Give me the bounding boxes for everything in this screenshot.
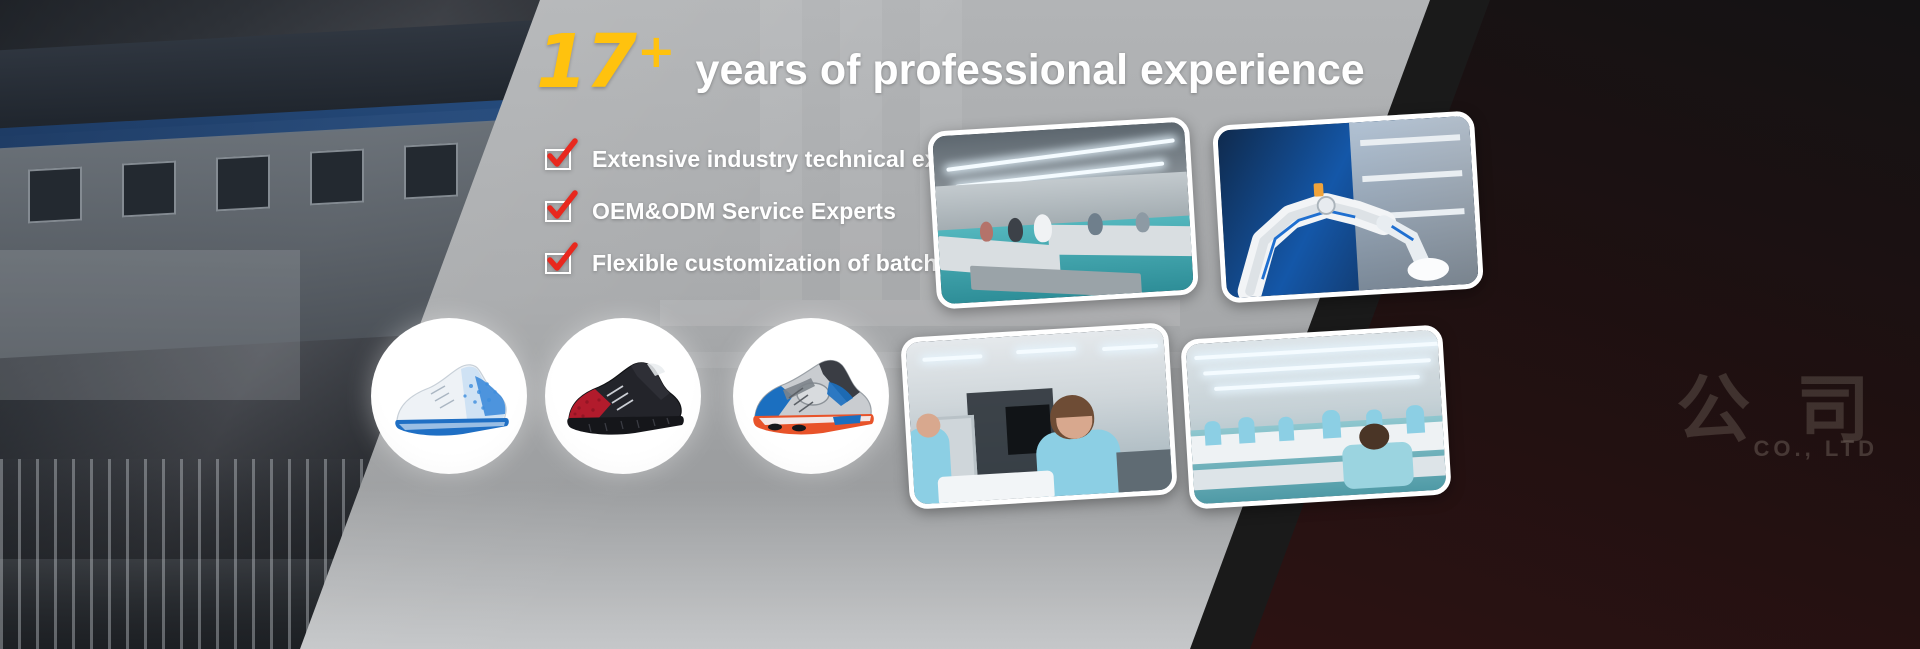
red-check-icon <box>545 201 571 222</box>
worker <box>1238 417 1256 444</box>
photo-assembly-line[interactable] <box>900 322 1178 510</box>
product-circle-black-red-shoe[interactable] <box>545 318 701 474</box>
work-bench <box>1048 225 1199 257</box>
building-window <box>404 142 458 199</box>
building-window <box>28 166 82 223</box>
headline-number: 17 <box>536 28 635 96</box>
shoe-stack <box>937 470 1055 507</box>
photo-workshop[interactable] <box>1180 324 1452 509</box>
photo-robot-arm[interactable] <box>1212 110 1484 303</box>
building-window <box>122 160 176 217</box>
product-circle-white-blue-shoe[interactable] <box>371 318 527 474</box>
product-circle-grey-blue-orange-shoe[interactable] <box>733 318 889 474</box>
photo-sewing-hall-content <box>932 122 1194 305</box>
red-check-icon <box>545 253 571 274</box>
photo-assembly-line-content <box>905 327 1172 504</box>
company-experience-banner: 公 司 CO., LTD 17 + years of professional … <box>0 0 1920 649</box>
building-window <box>310 148 364 205</box>
building-window <box>216 154 270 211</box>
headline: 17 + years of professional experience <box>536 28 1371 96</box>
red-check-icon <box>545 149 571 170</box>
headline-plus-sign: + <box>637 28 676 74</box>
worker <box>1322 410 1342 439</box>
photo-workshop-content <box>1185 330 1446 505</box>
building-base <box>0 250 300 400</box>
worker <box>1204 421 1221 446</box>
feature-label: Flexible customization of batches <box>592 250 963 277</box>
worker <box>1405 405 1425 434</box>
worker <box>1135 212 1150 233</box>
building-sign-english: CO., LTD <box>1754 436 1878 462</box>
worker <box>1278 416 1294 441</box>
feature-label: OEM&ODM Service Experts <box>592 198 896 225</box>
photo-robot-arm-content <box>1217 116 1479 299</box>
headline-tail-text: years of professional experience <box>696 49 1365 92</box>
photo-sewing-hall[interactable] <box>927 116 1199 309</box>
